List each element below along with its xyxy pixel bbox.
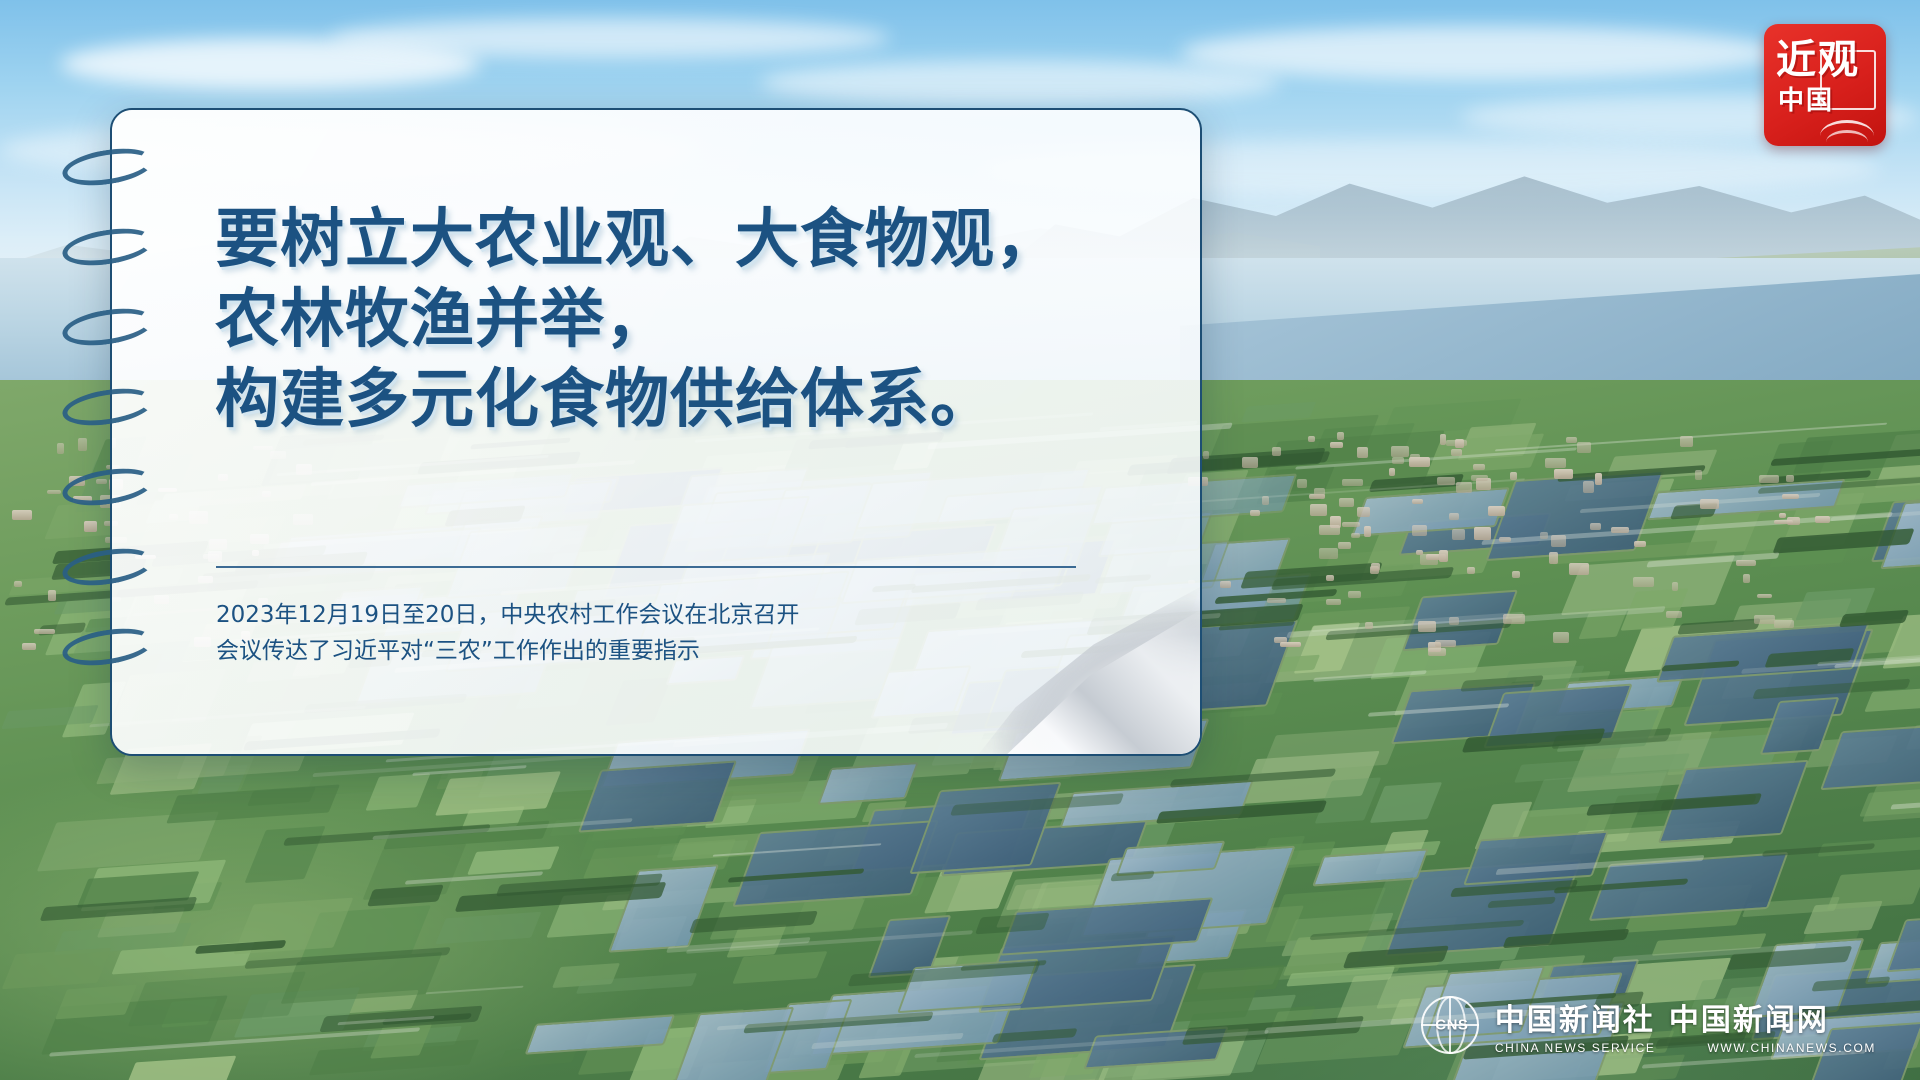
logo-line-1: 近观 (1776, 38, 1874, 82)
rooftop (1815, 516, 1830, 523)
rooftop (1409, 457, 1430, 466)
rooftop (1342, 479, 1363, 486)
field-patch (1827, 869, 1920, 909)
rooftop (1499, 537, 1511, 542)
fish-pond (817, 762, 919, 805)
rooftop (1262, 496, 1269, 505)
rooftop (14, 581, 22, 588)
footer-cn-name-1: 中国新闻社 (1495, 995, 1655, 1039)
rooftop (1308, 436, 1316, 441)
rooftop (1473, 464, 1485, 470)
rooftop (1348, 591, 1361, 598)
rooftop (1759, 475, 1780, 483)
binding-ring (60, 623, 156, 671)
rooftop (1611, 527, 1630, 534)
rooftop (1351, 533, 1359, 538)
footer-en-row: CHINA NEWS SERVICE WWW.CHINANEWS.COM (1495, 1041, 1876, 1055)
rooftop (1540, 532, 1549, 539)
rooftop (1342, 522, 1361, 527)
footer-branding: CNS 中国新闻社 中国新闻网 CHINA NEWS SERVICE WWW.C… (1421, 992, 1876, 1058)
cloud (760, 60, 1280, 106)
caption-text: 2023年12月19日至20日，中央农村工作会议在北京召开 会议传达了习近平对“… (216, 597, 1096, 669)
rooftop (1566, 437, 1577, 444)
rooftop (1595, 473, 1602, 485)
rooftop (1577, 442, 1590, 453)
rooftop (1330, 442, 1343, 447)
rooftop (1545, 458, 1566, 468)
rooftop (1319, 548, 1337, 559)
rooftop (1364, 526, 1371, 537)
rooftop (1680, 436, 1694, 447)
rooftop (1700, 499, 1719, 508)
rooftop (1449, 617, 1459, 626)
logo-line-2: 中国 (1778, 86, 1874, 116)
rooftop (1297, 479, 1307, 488)
rooftop (1569, 563, 1588, 576)
rooftop (1779, 513, 1786, 518)
cloud (1180, 26, 1780, 80)
rooftop (1549, 552, 1558, 564)
rooftop (1439, 550, 1448, 563)
rooftop (1428, 648, 1447, 656)
rooftop (1280, 642, 1301, 646)
rooftop (1774, 620, 1794, 628)
rooftop (1503, 614, 1525, 625)
rooftop (1416, 550, 1423, 555)
rooftop (1634, 541, 1646, 547)
rooftop (1357, 507, 1370, 517)
footer-cn-row: 中国新闻社 中国新闻网 (1495, 995, 1876, 1039)
rooftop (1583, 481, 1594, 493)
rooftop (1319, 525, 1339, 535)
divider-rule (216, 566, 1076, 568)
rooftop (1412, 525, 1427, 536)
rooftop (1474, 527, 1492, 540)
cloud (330, 18, 890, 58)
rooftop (1326, 599, 1340, 605)
rooftop (1452, 529, 1466, 540)
rooftop (12, 510, 32, 520)
rooftop (1326, 575, 1334, 581)
cns-globe-icon: CNS (1421, 996, 1479, 1054)
binding-ring (60, 143, 156, 191)
rooftop (1672, 582, 1678, 591)
jinguan-china-logo[interactable]: 近观 中国 (1764, 24, 1886, 146)
rooftop (1203, 451, 1210, 459)
rooftop (1314, 488, 1325, 498)
rooftop (1471, 475, 1488, 481)
rooftop (1754, 615, 1775, 624)
rooftop (1782, 494, 1800, 499)
rooftop (1310, 504, 1327, 516)
binding-ring (60, 543, 156, 591)
rooftop (1338, 542, 1351, 549)
rooftop (1695, 470, 1702, 480)
rooftop (1391, 446, 1409, 457)
rooftop (1437, 477, 1455, 484)
rooftop (1371, 563, 1379, 571)
rooftop (48, 590, 56, 600)
rooftop (1774, 520, 1792, 524)
footer-cn-name-2: 中国新闻网 (1669, 995, 1829, 1039)
binding-ring (60, 223, 156, 271)
rooftop (1786, 475, 1795, 482)
rooftop (1389, 468, 1396, 476)
rooftop (1590, 523, 1600, 531)
rooftop (1357, 447, 1368, 458)
rooftop (1449, 513, 1459, 520)
rooftop (22, 643, 37, 650)
rooftop (1250, 510, 1260, 516)
rooftop (1736, 560, 1756, 566)
rooftop (34, 629, 55, 634)
rooftop (1553, 632, 1570, 643)
rooftop (1633, 577, 1654, 587)
rooftop (1488, 506, 1506, 516)
rooftop (1451, 449, 1462, 456)
binding-ring (60, 303, 156, 351)
rooftop (1440, 434, 1446, 445)
rooftop (1435, 640, 1456, 647)
globe-meridian (1436, 996, 1466, 1054)
footer-en-name-2: WWW.CHINANEWS.COM (1707, 1041, 1876, 1055)
spiral-binding (62, 150, 182, 710)
footer-text-block: 中国新闻社 中国新闻网 CHINA NEWS SERVICE WWW.CHINA… (1495, 995, 1876, 1055)
rooftop (1467, 567, 1475, 575)
headline-quote: 要树立大农业观、大食物观， 农林牧渔并举， 构建多元化食物供给体系。 (215, 200, 1095, 440)
rooftop (1267, 598, 1286, 603)
rooftop (1455, 439, 1463, 448)
rooftop (1365, 622, 1373, 628)
rooftop (47, 490, 61, 494)
binding-ring (60, 463, 156, 511)
rooftop (1743, 574, 1750, 582)
fish-pond (732, 820, 939, 907)
rooftop (1757, 594, 1771, 598)
rooftop (1272, 447, 1280, 456)
rooftop (1512, 571, 1520, 578)
rooftop (1554, 469, 1573, 479)
rooftop (1551, 535, 1566, 546)
binding-ring (60, 383, 156, 431)
rooftop (1339, 498, 1353, 507)
rooftop (1666, 611, 1682, 618)
rooftop (1510, 472, 1517, 479)
footer-en-name-1: CHINA NEWS SERVICE (1495, 1041, 1656, 1055)
rooftop (1392, 457, 1404, 464)
cns-mark-label: CNS (1423, 1017, 1481, 1034)
rooftop (1337, 432, 1344, 440)
rooftop (1412, 499, 1423, 504)
rooftop (1456, 482, 1472, 494)
rooftop (1220, 581, 1231, 588)
rooftop (1242, 457, 1258, 468)
rooftop (1418, 621, 1436, 632)
